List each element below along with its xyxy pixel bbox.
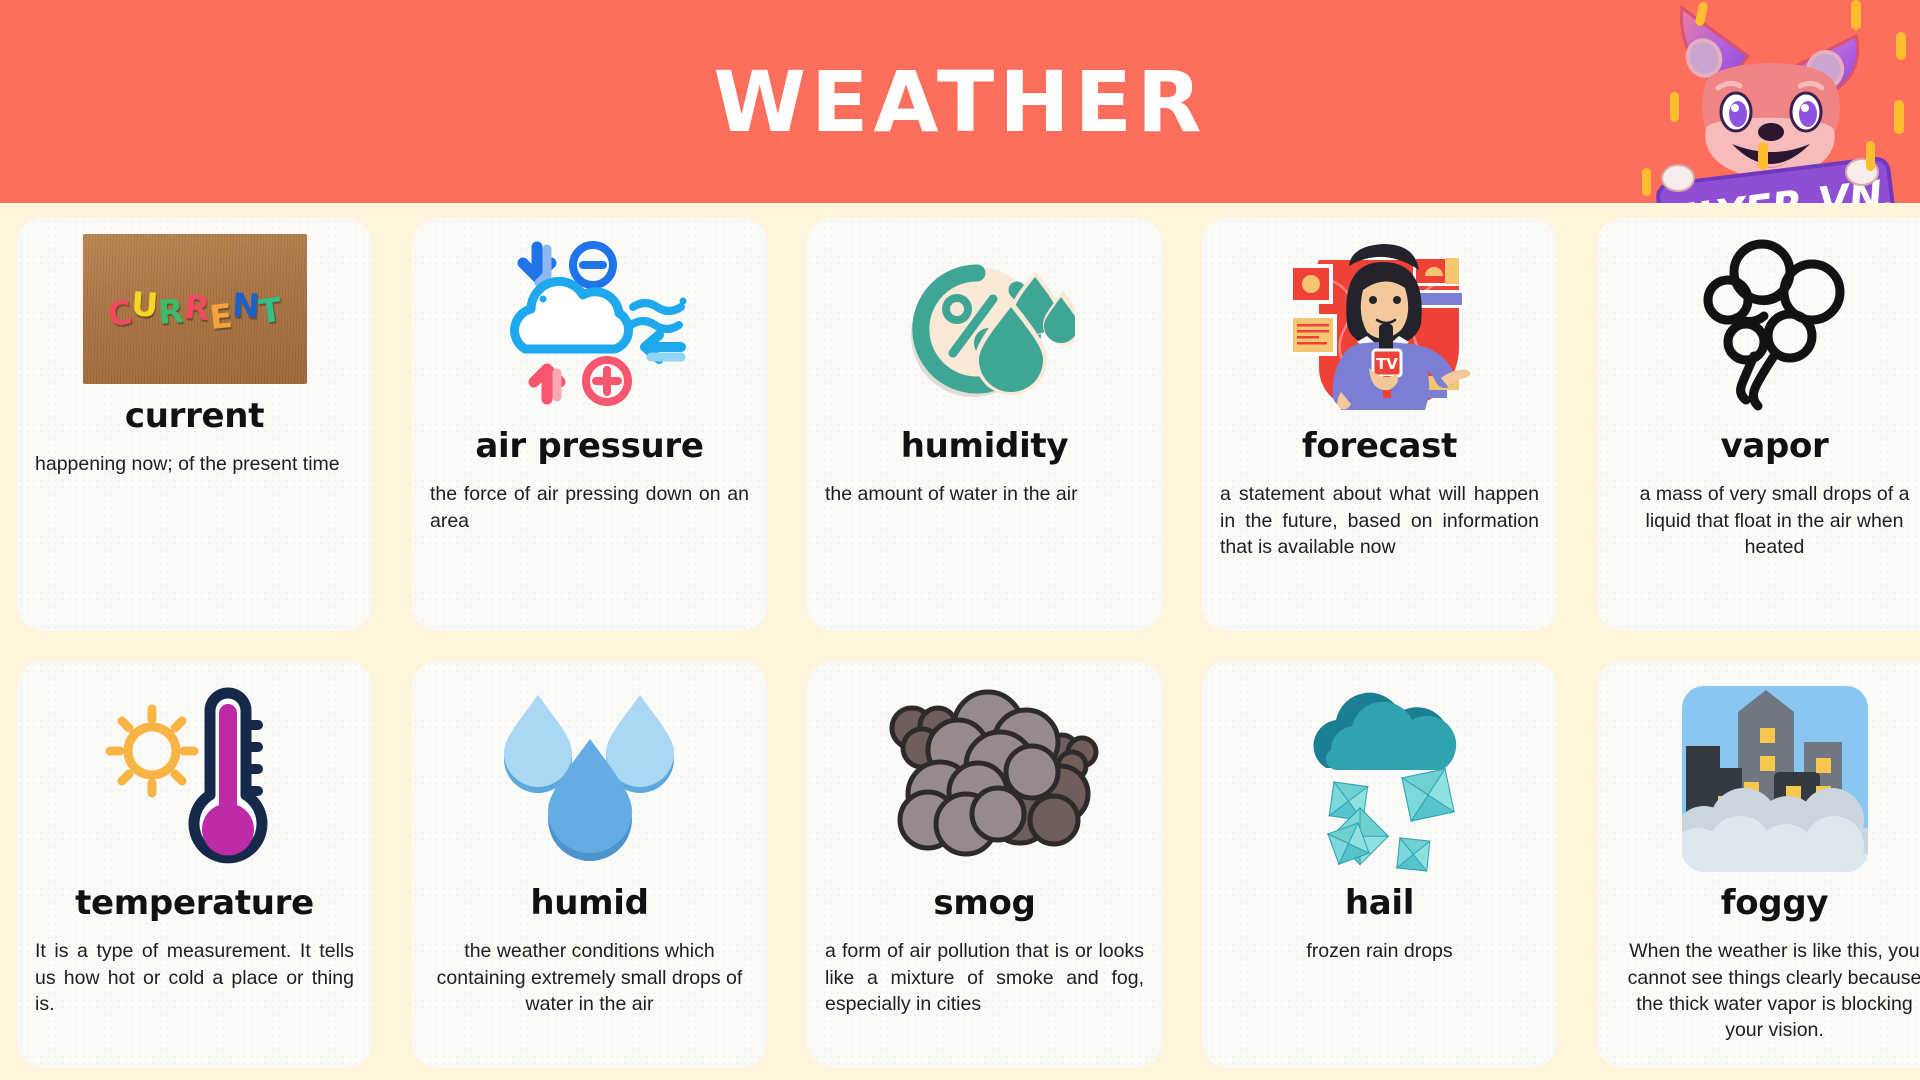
card-foggy[interactable]: foggy When the weather is like this, you… — [1597, 661, 1920, 1068]
foam-letters: C U R R E N T — [107, 293, 282, 326]
card-definition: frozen rain drops — [1220, 938, 1539, 964]
card-humid[interactable]: humid the weather conditions which conta… — [412, 661, 767, 1068]
card-forecast[interactable]: TV forecast a statement about what will … — [1202, 218, 1557, 631]
card-definition: a form of air pollution that is or looks… — [825, 938, 1144, 1017]
steam-outline-icon — [1615, 238, 1920, 414]
card-word: air pressure — [475, 428, 703, 465]
card-smog[interactable]: smog a form of air pollution that is or … — [807, 661, 1162, 1068]
confetti-bar — [1851, 0, 1861, 30]
humidity-percent-droplet-icon — [825, 238, 1144, 414]
card-current[interactable]: C U R R E N T current happening now; of … — [17, 218, 372, 631]
card-word: hail — [1345, 885, 1414, 922]
foggy-city-icon — [1615, 681, 1920, 877]
confetti-bar — [1670, 92, 1679, 122]
card-definition: When the weather is like this, you canno… — [1615, 938, 1920, 1043]
card-humidity[interactable]: humidity the amount of water in the air — [807, 218, 1162, 631]
svg-text:TV: TV — [1376, 355, 1398, 373]
card-definition: happening now; of the present time — [35, 451, 354, 477]
hail-cloud-icon — [1220, 681, 1539, 877]
card-definition: the force of air pressing down on an are… — [430, 481, 749, 534]
card-temperature[interactable]: temperature It is a type of measurement.… — [17, 661, 372, 1068]
card-hail[interactable]: hail frozen rain drops — [1202, 661, 1557, 1068]
three-water-drops-icon — [430, 681, 749, 877]
thermometer-sun-icon — [35, 681, 354, 877]
cloud-pressure-arrows-icon — [430, 238, 749, 414]
smog-clouds-icon — [825, 681, 1144, 877]
confetti-bar — [1894, 100, 1904, 134]
card-word: foggy — [1721, 885, 1829, 922]
card-vapor[interactable]: vapor a mass of very small drops of a li… — [1597, 218, 1920, 631]
confetti-bar — [1642, 168, 1651, 196]
weather-reporter-icon: TV — [1220, 238, 1539, 414]
card-word: humid — [530, 885, 648, 922]
card-definition: the weather conditions which containing … — [430, 938, 749, 1017]
card-definition: It is a type of measurement. It tells us… — [35, 938, 354, 1017]
card-word: forecast — [1302, 428, 1457, 465]
card-word: vapor — [1720, 428, 1828, 465]
confetti-bar — [1896, 32, 1906, 60]
card-definition: a mass of very small drops of a liquid t… — [1615, 481, 1920, 560]
confetti-bar — [1758, 142, 1768, 170]
page-header: WEATHER — [0, 0, 1920, 203]
vocabulary-grid: C U R R E N T current happening now; of … — [0, 203, 1920, 1080]
card-word: current — [125, 398, 264, 435]
wood-foam-letters-photo: C U R R E N T — [35, 234, 354, 384]
mascot-area: FLYER.VN — [1620, 0, 1920, 203]
confetti-bar — [1866, 141, 1875, 171]
card-definition: the amount of water in the air — [825, 481, 1144, 507]
card-air-pressure[interactable]: air pressure the force of air pressing d… — [412, 218, 767, 631]
fox-mascot-icon: FLYER.VN — [1620, 0, 1920, 203]
card-word: smog — [933, 885, 1035, 922]
card-definition: a statement about what will happen in th… — [1220, 481, 1539, 560]
card-word: humidity — [901, 428, 1069, 465]
card-word: temperature — [75, 885, 314, 922]
